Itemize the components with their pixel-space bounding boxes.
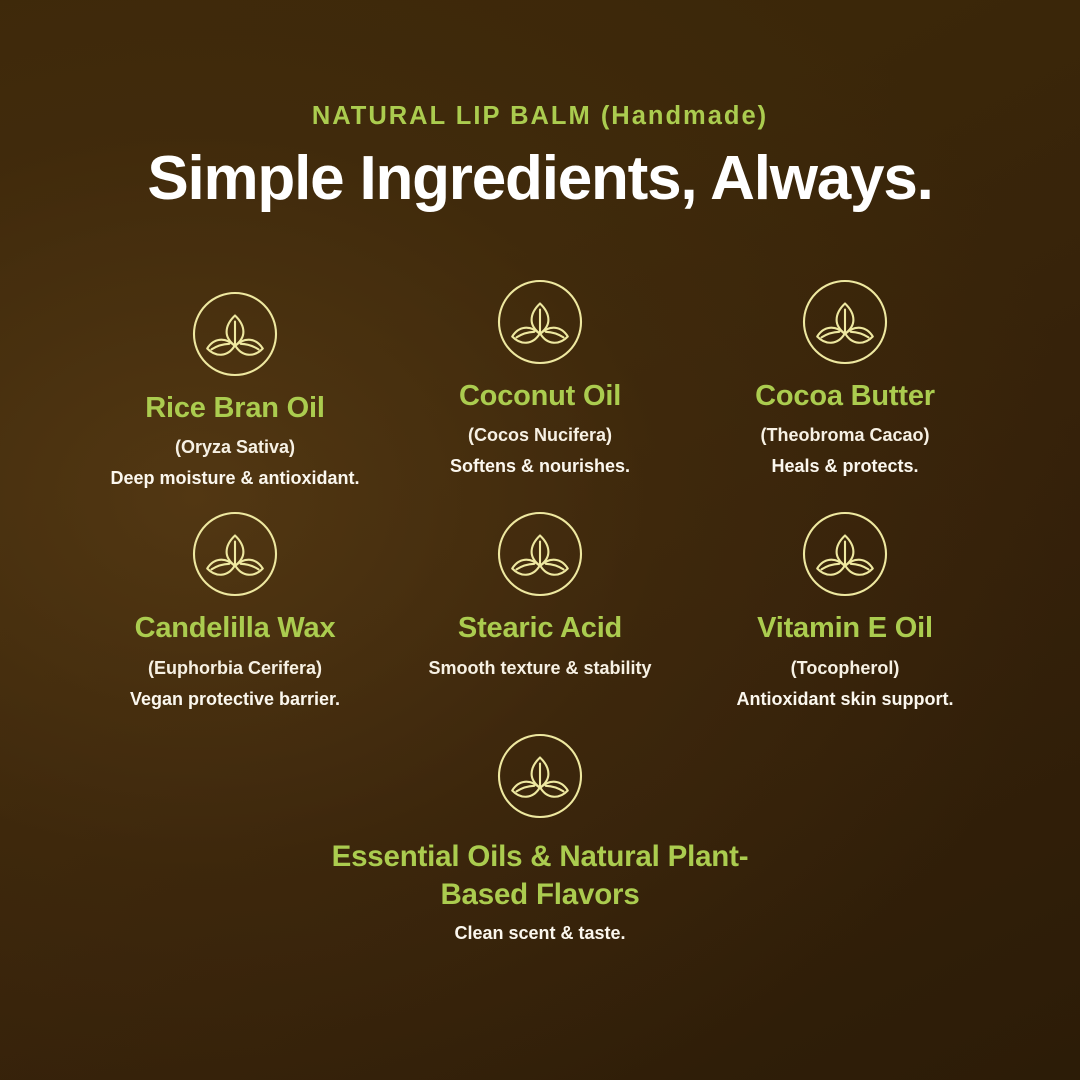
ingredient-card-rice-bran-oil: Rice Bran Oil (Oryza Sativa) Deep moistu… <box>83 286 388 490</box>
three-leaf-sprout-icon <box>693 506 998 602</box>
ingredients-poster: NATURAL LIP BALM (Handmade) Simple Ingre… <box>0 0 1080 1080</box>
ingredients-row-3: Essential Oils & Natural Plant-Based Fla… <box>0 728 1080 944</box>
ingredient-description: Clean scent & taste. <box>310 914 770 945</box>
three-leaf-sprout-icon <box>693 274 998 370</box>
ingredient-description: Vegan protective barrier. <box>83 680 388 711</box>
ingredient-description: Heals & protects. <box>693 447 998 478</box>
ingredient-card-vitamin-e-oil: Vitamin E Oil (Tocopherol) Antioxidant s… <box>693 506 998 710</box>
ingredient-name: Coconut Oil <box>388 370 693 412</box>
three-leaf-sprout-icon <box>83 286 388 382</box>
ingredient-card-coconut-oil: Coconut Oil (Cocos Nucifera) Softens & n… <box>388 274 693 478</box>
ingredient-name: Candelilla Wax <box>83 602 388 644</box>
ingredient-latin-name: Smooth texture & stability <box>388 645 693 680</box>
ingredient-latin-name: (Tocopherol) <box>693 645 998 680</box>
three-leaf-sprout-icon <box>83 506 388 602</box>
ingredient-description: Softens & nourishes. <box>388 447 693 478</box>
ingredient-name: Vitamin E Oil <box>693 602 998 644</box>
page-title: Simple Ingredients, Always. <box>0 130 1080 213</box>
ingredient-latin-name: (Euphorbia Cerifera) <box>83 645 388 680</box>
poster-eyebrow: NATURAL LIP BALM (Handmade) <box>0 104 1080 130</box>
ingredient-description: Antioxidant skin support. <box>693 680 998 711</box>
ingredients-row-2: Candelilla Wax (Euphorbia Cerifera) Vega… <box>0 506 1080 710</box>
ingredient-name: Cocoa Butter <box>693 370 998 412</box>
ingredient-latin-name: (Theobroma Cacao) <box>693 412 998 447</box>
ingredient-name: Stearic Acid <box>388 602 693 644</box>
ingredient-name: Rice Bran Oil <box>83 382 388 424</box>
poster-header: NATURAL LIP BALM (Handmade) Simple Ingre… <box>0 0 1080 212</box>
ingredient-card-essential-oils: Essential Oils & Natural Plant-Based Fla… <box>310 728 770 944</box>
three-leaf-sprout-icon <box>310 728 770 824</box>
three-leaf-sprout-icon <box>388 274 693 370</box>
ingredient-latin-name: (Cocos Nucifera) <box>388 412 693 447</box>
ingredient-card-stearic-acid: Stearic Acid Smooth texture & stability <box>388 506 693 688</box>
ingredient-card-candelilla-wax: Candelilla Wax (Euphorbia Cerifera) Vega… <box>83 506 388 710</box>
ingredients-grid: Rice Bran Oil (Oryza Sativa) Deep moistu… <box>0 280 1080 944</box>
ingredients-row-1: Rice Bran Oil (Oryza Sativa) Deep moistu… <box>0 280 1080 484</box>
ingredient-description <box>388 680 693 689</box>
three-leaf-sprout-icon <box>388 506 693 602</box>
ingredient-description: Deep moisture & antioxidant. <box>83 459 388 490</box>
ingredient-latin-name: (Oryza Sativa) <box>83 424 388 459</box>
ingredient-name: Essential Oils & Natural Plant-Based Fla… <box>310 824 770 914</box>
ingredient-card-cocoa-butter: Cocoa Butter (Theobroma Cacao) Heals & p… <box>693 274 998 478</box>
